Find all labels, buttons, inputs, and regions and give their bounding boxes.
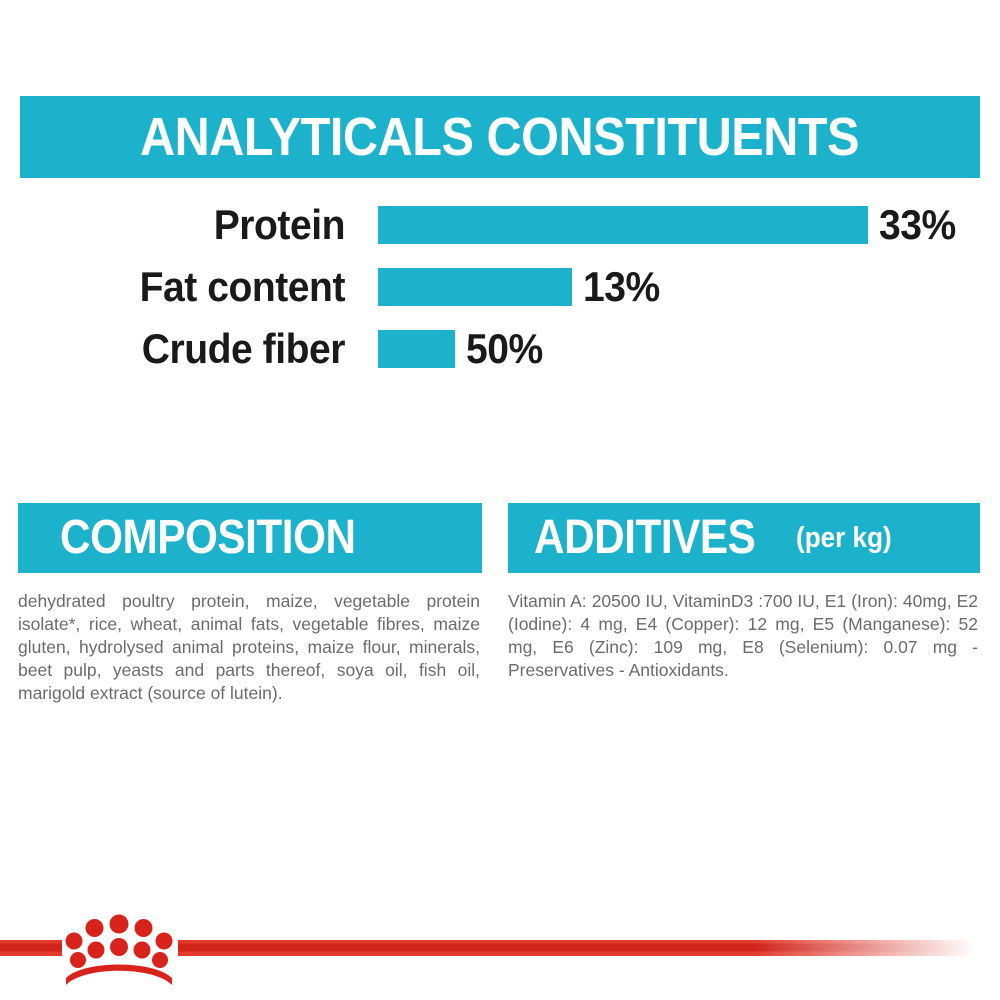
bar-fill-protein bbox=[378, 206, 868, 244]
composition-header: COMPOSITION bbox=[18, 503, 482, 573]
analyticals-constituents-title: ANALYTICALS CONSTITUENTS bbox=[140, 110, 859, 164]
bar-fill-crude-fiber bbox=[378, 330, 455, 368]
bar-value-protein: 33% bbox=[879, 204, 956, 246]
additives-body-text: Vitamin A: 20500 IU, VitaminD3 :700 IU, … bbox=[508, 590, 978, 682]
composition-body-text: dehydrated poultry protein, maize, veget… bbox=[18, 590, 480, 705]
additives-title: ADDITIVES bbox=[534, 514, 755, 562]
bar-value-fat-content: 13% bbox=[583, 266, 660, 308]
footer-rule-left bbox=[0, 940, 62, 956]
footer bbox=[0, 900, 1000, 1000]
bar-label-fat-content: Fat content bbox=[24, 266, 345, 308]
composition-title: COMPOSITION bbox=[60, 514, 356, 562]
footer-rule-left-fill bbox=[0, 940, 62, 956]
bar-fill-fat-content bbox=[378, 268, 572, 306]
bar-track-fat-content bbox=[378, 268, 572, 306]
footer-rule-right bbox=[178, 940, 1000, 956]
table-row: Fat content 13% bbox=[0, 258, 1000, 316]
bar-track-crude-fiber bbox=[378, 330, 455, 368]
additives-header: ADDITIVES (per kg) bbox=[508, 503, 980, 573]
bar-track-protein bbox=[378, 206, 868, 244]
table-row: Protein 33% bbox=[0, 196, 1000, 254]
analyticals-constituents-header: ANALYTICALS CONSTITUENTS bbox=[20, 96, 980, 178]
bar-label-crude-fiber: Crude fiber bbox=[24, 328, 345, 370]
analyticals-bar-chart: Protein 33% Fat content 13% Crude fiber … bbox=[0, 196, 1000, 386]
bar-label-protein: Protein bbox=[24, 204, 345, 246]
bar-value-crude-fiber: 50% bbox=[466, 328, 543, 370]
additives-title-suffix: (per kg) bbox=[796, 524, 892, 553]
table-row: Crude fiber 50% bbox=[0, 320, 1000, 378]
royal-canin-crown-icon bbox=[60, 908, 178, 992]
footer-rule-right-fill bbox=[178, 940, 1000, 956]
